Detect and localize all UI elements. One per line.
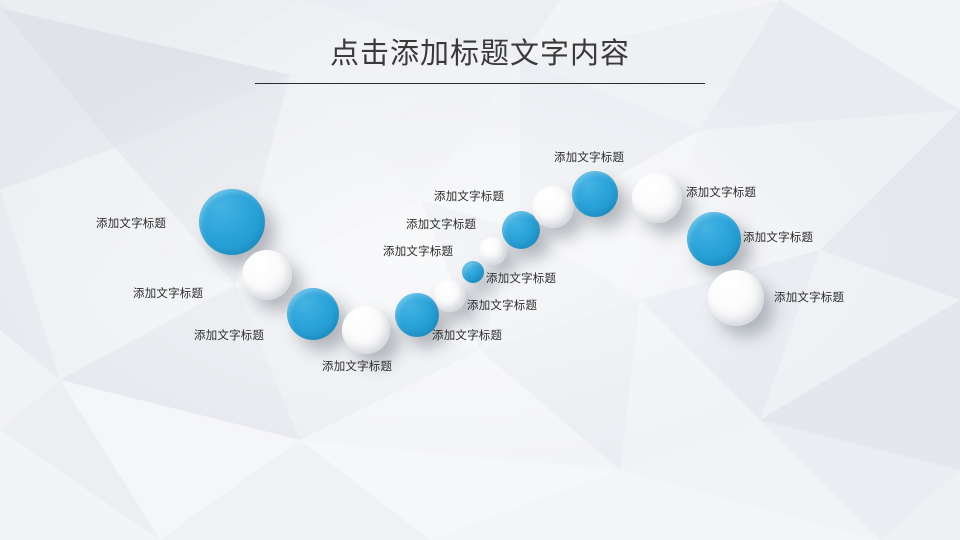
circle-node-6[interactable]: [434, 280, 466, 312]
node-label-2[interactable]: 添加文字标题: [133, 287, 203, 301]
title-underline: [255, 83, 705, 84]
circle-node-12[interactable]: [632, 173, 682, 223]
node-label-14[interactable]: 添加文字标题: [774, 291, 844, 305]
node-label-9[interactable]: 添加文字标题: [406, 218, 476, 232]
node-label-11[interactable]: 添加文字标题: [554, 151, 624, 165]
node-label-3[interactable]: 添加文字标题: [194, 329, 264, 343]
node-label-10[interactable]: 添加文字标题: [434, 190, 504, 204]
circle-node-13[interactable]: [687, 212, 741, 266]
node-label-4[interactable]: 添加文字标题: [322, 360, 392, 374]
page-title: 点击添加标题文字内容: [255, 34, 705, 74]
circle-node-14[interactable]: [708, 270, 764, 326]
node-label-7[interactable]: 添加文字标题: [486, 272, 556, 286]
circle-node-1[interactable]: [199, 189, 265, 255]
title-block: 点击添加标题文字内容: [255, 34, 705, 84]
circle-node-10[interactable]: [532, 186, 574, 228]
slide-canvas: 点击添加标题文字内容 添加文字标题添加文字标题添加文字标题添加文字标题添加文字标…: [0, 0, 960, 540]
circle-node-7[interactable]: [462, 261, 484, 283]
circle-node-3[interactable]: [287, 288, 339, 340]
circle-node-2[interactable]: [242, 250, 292, 300]
circle-node-11[interactable]: [572, 171, 618, 217]
node-label-13[interactable]: 添加文字标题: [743, 231, 813, 245]
node-label-6[interactable]: 添加文字标题: [467, 299, 537, 313]
node-label-8[interactable]: 添加文字标题: [383, 245, 453, 259]
node-label-5[interactable]: 添加文字标题: [432, 329, 502, 343]
circle-node-4[interactable]: [342, 306, 390, 354]
circle-node-8[interactable]: [479, 237, 507, 265]
node-label-12[interactable]: 添加文字标题: [686, 186, 756, 200]
node-label-1[interactable]: 添加文字标题: [96, 217, 166, 231]
